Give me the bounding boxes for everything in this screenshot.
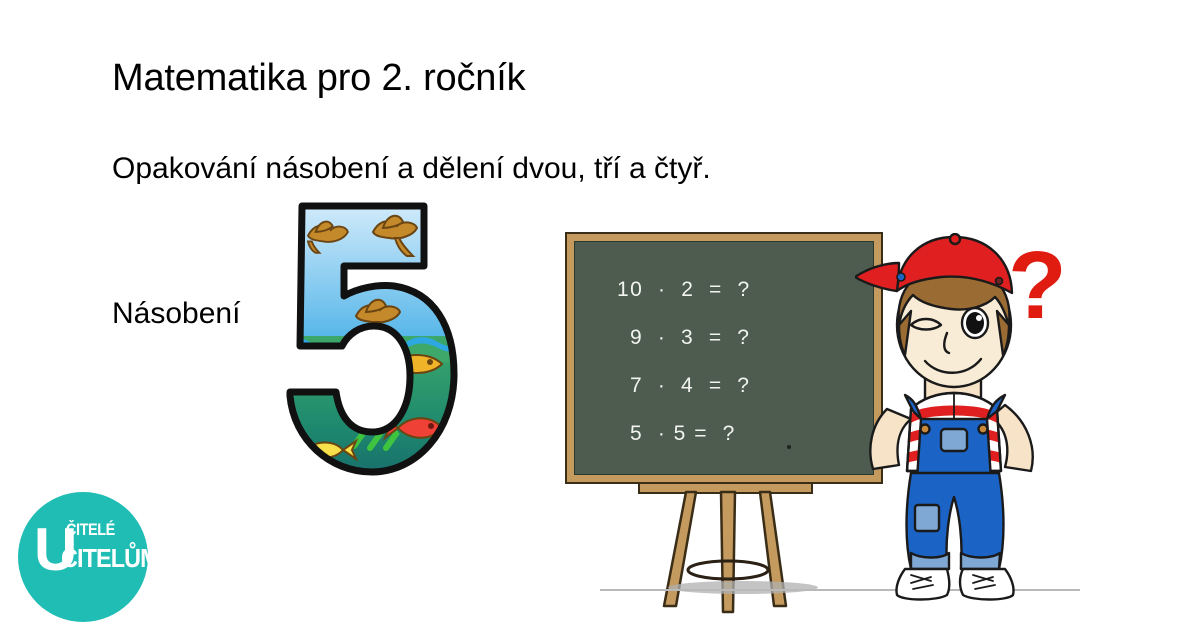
equation-row: 7 · 4 = ? bbox=[575, 362, 873, 410]
logo-line-2: ČITELŮM.CZ bbox=[61, 545, 194, 571]
section-label-nasobeni: Násobení bbox=[112, 297, 240, 331]
logo-line-1: ČITELÉ bbox=[66, 521, 115, 538]
stray-dot-mark bbox=[787, 445, 791, 449]
easel-shadow bbox=[668, 581, 818, 594]
blackboard-frame: 10 · 2 = ? 9 · 3 = ? 7 · 4 = ? 5 · 5 = ? bbox=[565, 232, 883, 484]
easel-legs bbox=[620, 490, 840, 620]
equation-row: 10 · 2 = ? bbox=[575, 266, 873, 314]
question-mark: ? bbox=[1008, 238, 1067, 334]
page-title: Matematika pro 2. ročník bbox=[112, 58, 525, 100]
equation-row: 9 · 3 = ? bbox=[575, 314, 873, 362]
logo-ucitele-ucitelum[interactable]: U ČITELÉ ČITELŮM.CZ bbox=[18, 492, 148, 622]
blackboard-surface: 10 · 2 = ? 9 · 3 = ? 7 · 4 = ? 5 · 5 = ? bbox=[574, 241, 874, 475]
page-subtitle: Opakování násobení a dělení dvou, tří a … bbox=[112, 152, 711, 187]
equation-list: 10 · 2 = ? 9 · 3 = ? 7 · 4 = ? 5 · 5 = ? bbox=[575, 266, 873, 458]
decorative-number-five bbox=[278, 196, 478, 486]
equation-row: 5 · 5 = ? bbox=[575, 410, 873, 458]
